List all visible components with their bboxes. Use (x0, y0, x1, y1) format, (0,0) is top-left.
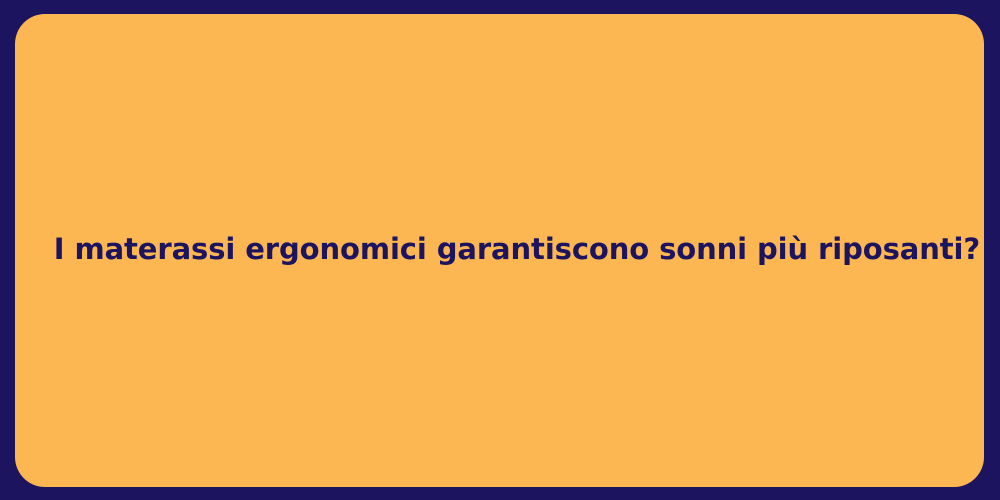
question-card: I materassi ergonomici garantiscono sonn… (15, 14, 984, 487)
card-outer-frame: I materassi ergonomici garantiscono sonn… (0, 0, 1000, 500)
page-title: I materassi ergonomici garantiscono sonn… (54, 231, 945, 267)
